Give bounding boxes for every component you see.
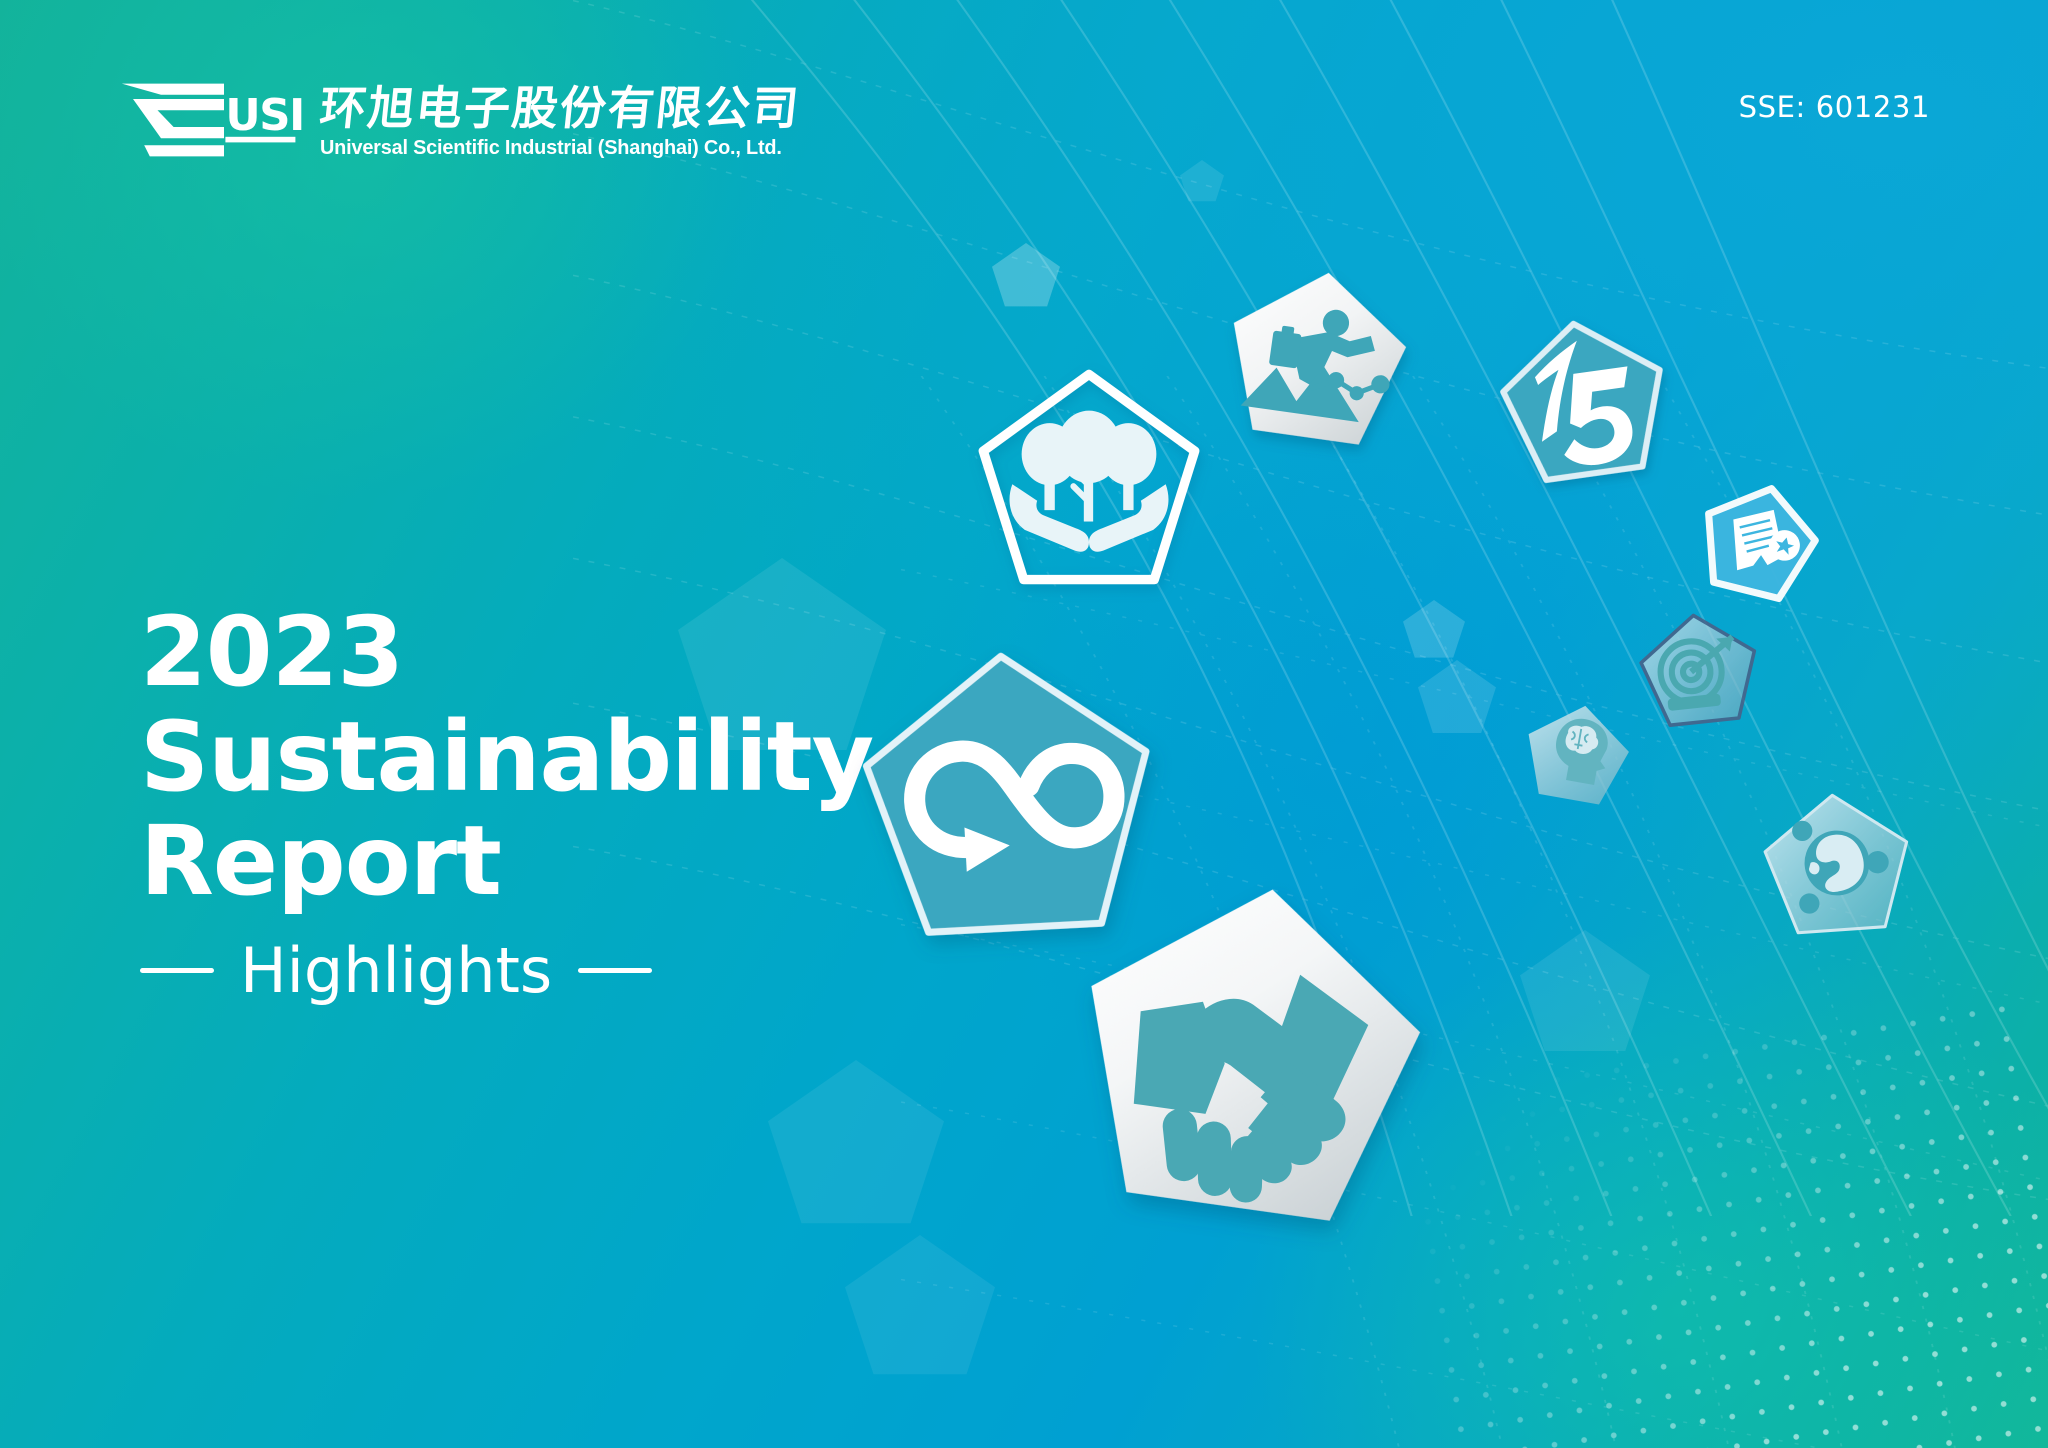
cover-header: USI 环旭电子股份有限公司 Universal Scientific Indu…: [0, 0, 2048, 210]
trees-in-hands-icon: [975, 368, 1203, 588]
page-subtitle: Highlights: [240, 940, 552, 1002]
badge-forest-hands: [975, 368, 1203, 588]
report-cover: USI 环旭电子股份有限公司 Universal Scientific Indu…: [0, 0, 2048, 1448]
title-line-report: Report: [140, 809, 960, 914]
title-line-sustainability: Sustainability: [140, 705, 960, 810]
badge-anniversary: [1490, 307, 1679, 491]
badge-growth-climb: [1215, 256, 1420, 456]
globe-network-people-icon: [1757, 785, 1917, 941]
handshake-icon: [1052, 857, 1448, 1243]
badge-globe-network: [1757, 785, 1917, 941]
svg-text:USI: USI: [225, 91, 302, 141]
badge-target: [1632, 604, 1766, 734]
company-name-cn: 环旭电子股份有限公司: [318, 85, 803, 132]
badge-handshake: [1052, 857, 1448, 1243]
subtitle-rule-right: [578, 968, 652, 973]
title-line-year: 2023: [140, 600, 960, 705]
fifteen-anniversary-icon: [1490, 307, 1679, 491]
businessman-mountain-growth-icon: [1215, 256, 1420, 456]
head-brain-icon: [1514, 691, 1641, 814]
company-logo: USI 环旭电子股份有限公司 Universal Scientific Indu…: [118, 78, 800, 162]
usi-chevron-logo-icon: USI: [118, 78, 302, 162]
stock-ticker: SSE: 601231: [1739, 90, 1930, 124]
subtitle-row: Highlights: [140, 940, 960, 1002]
subtitle-rule-left: [140, 968, 214, 973]
cover-title-block: 2023 Sustainability Report Highlights: [140, 600, 960, 1002]
page-title: 2023 Sustainability Report: [140, 600, 960, 914]
badge-brain-head: [1514, 691, 1641, 814]
company-name-en: Universal Scientific Industrial (Shangha…: [320, 137, 786, 160]
target-arrow-icon: [1632, 604, 1766, 734]
